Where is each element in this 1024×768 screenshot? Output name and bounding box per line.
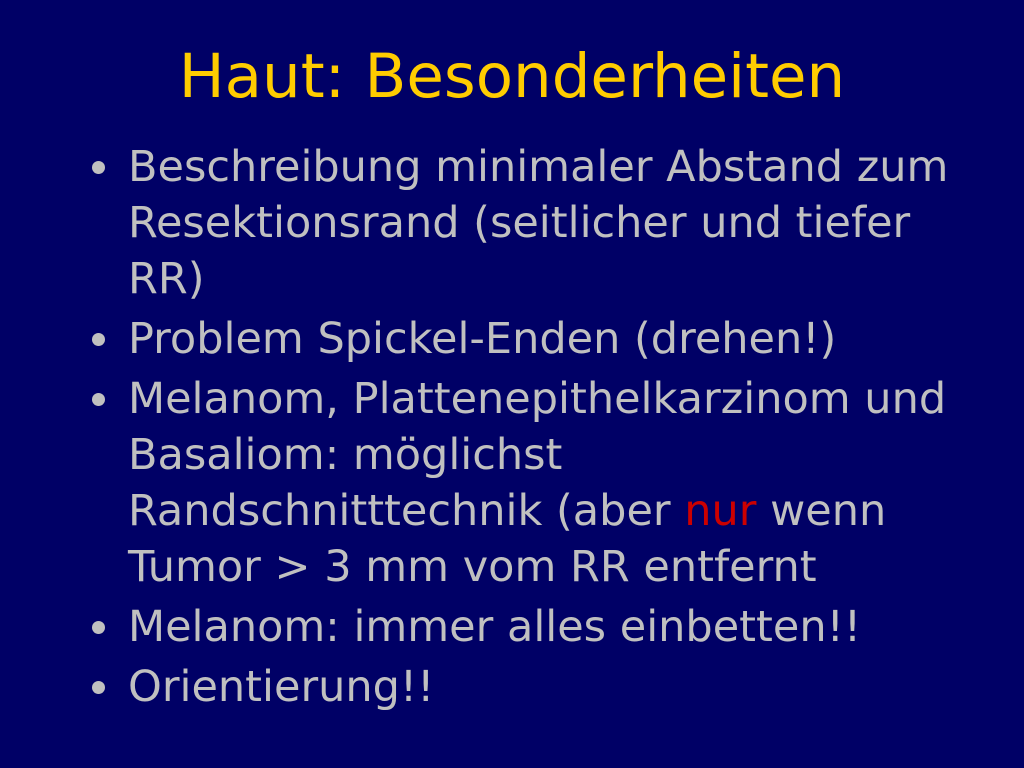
page-title: Haut: Besonderheiten bbox=[0, 42, 1024, 112]
list-item: Beschreibung minimaler Abstand zum Resek… bbox=[86, 139, 976, 307]
list-item: Melanom: immer alles einbetten!! bbox=[86, 599, 976, 655]
list-item-label: Problem Spickel-Enden (drehen!) bbox=[128, 311, 976, 367]
bullet-dot-icon bbox=[92, 161, 105, 174]
bullet-dot-icon bbox=[92, 333, 105, 346]
list-item-label: Melanom: immer alles einbetten!! bbox=[128, 599, 976, 655]
list-item: Melanom, Plattenepithelkarzinom und Basa… bbox=[86, 371, 976, 595]
list-item-label: Orientierung!! bbox=[128, 659, 976, 715]
list-item: Problem Spickel-Enden (drehen!) bbox=[86, 311, 976, 367]
bullet-dot-icon bbox=[92, 621, 105, 634]
list-item-label: Beschreibung minimaler Abstand zum Resek… bbox=[128, 139, 976, 307]
list-item-accent-word: nur bbox=[684, 486, 756, 536]
list-item-label: Melanom, Plattenepithelkarzinom und Basa… bbox=[128, 371, 976, 595]
bullet-dot-icon bbox=[92, 393, 105, 406]
presentation-slide: Haut: Besonderheiten Beschreibung minima… bbox=[0, 0, 1024, 768]
bullet-list: Beschreibung minimaler Abstand zum Resek… bbox=[86, 139, 976, 719]
bullet-dot-icon bbox=[92, 681, 105, 694]
list-item: Orientierung!! bbox=[86, 659, 976, 715]
